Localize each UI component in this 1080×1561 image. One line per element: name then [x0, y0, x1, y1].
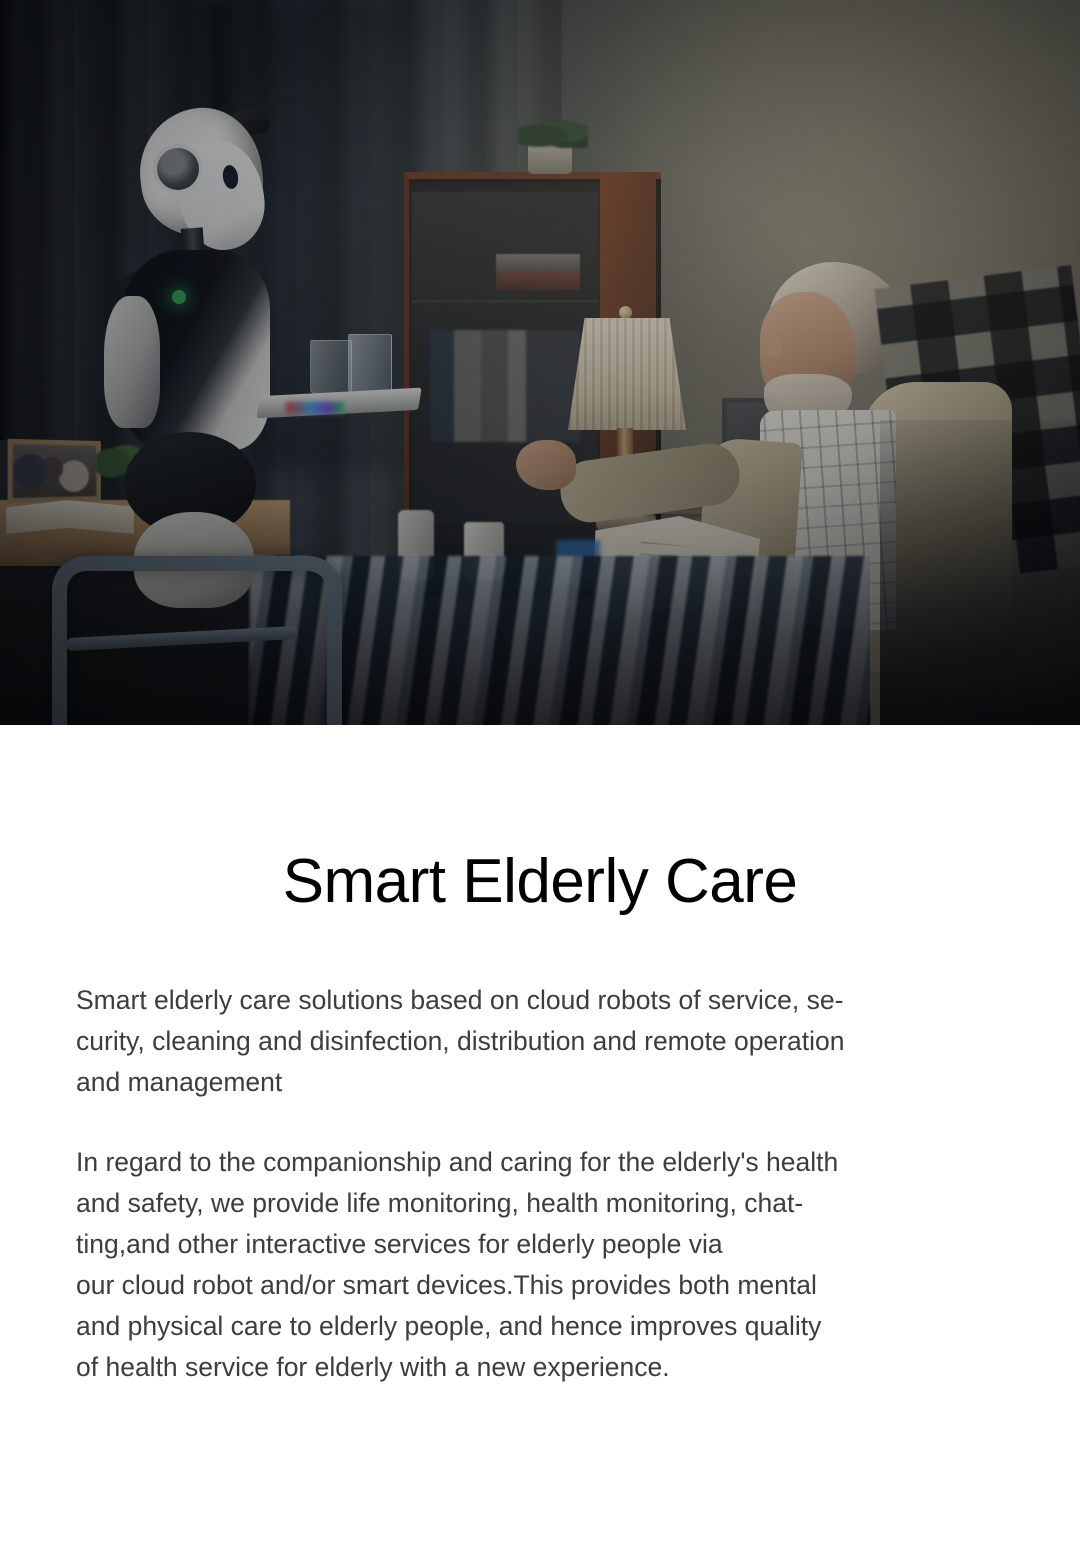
elderly-man-hand: [516, 440, 576, 490]
bookshelf-books-lower: [430, 330, 580, 442]
page-title: Smart Elderly Care: [0, 725, 1080, 913]
tray-glass-left: [310, 340, 352, 394]
paragraph-2-line-6: of health service for elderly with a new…: [76, 1347, 1018, 1388]
bedding-shadow: [250, 556, 870, 725]
paragraph-1-line-3: and management: [76, 1062, 1018, 1103]
tray-glass-right: [348, 334, 392, 394]
paragraph-2-line-3: ting,and other interactive services for …: [76, 1224, 1018, 1265]
paragraph-2-line-2: and safety, we provide life monitoring, …: [76, 1183, 1018, 1224]
pillow-shadow: [880, 420, 1080, 725]
paragraph-1: Smart elderly care solutions based on cl…: [76, 980, 1018, 1103]
paragraph-1-line-1: Smart elderly care solutions based on cl…: [76, 980, 1018, 1021]
desk-photo-frame: [8, 439, 101, 503]
elderly-man-nose: [762, 340, 782, 356]
table-lamp-shade: [568, 318, 686, 430]
bookshelf-books-upper: [496, 254, 580, 290]
article-content: Smart Elderly Care Smart elderly care so…: [0, 725, 1080, 1388]
robot-rgb-leds: [286, 402, 344, 414]
robot-ear-sensor: [157, 148, 199, 190]
curtain-left-edge: [0, 0, 20, 440]
paragraph-2-line-4: our cloud robot and/or smart devices.Thi…: [76, 1265, 1018, 1306]
bookshelf-divider: [412, 300, 598, 303]
body-copy: Smart elderly care solutions based on cl…: [0, 980, 1080, 1388]
paragraph-2: In regard to the companionship and carin…: [76, 1142, 1018, 1388]
lamp-finial: [619, 306, 632, 319]
potted-plant-leaves: [518, 118, 588, 148]
robot-status-led: [172, 290, 186, 304]
desk-photo: [13, 444, 97, 498]
robot-arm: [104, 296, 160, 428]
hero-image: [0, 0, 1080, 725]
paragraph-2-line-5: and physical care to elderly people, and…: [76, 1306, 1018, 1347]
paragraph-2-line-1: In regard to the companionship and carin…: [76, 1142, 1018, 1183]
paragraph-1-line-2: curity, cleaning and disinfection, distr…: [76, 1021, 1018, 1062]
